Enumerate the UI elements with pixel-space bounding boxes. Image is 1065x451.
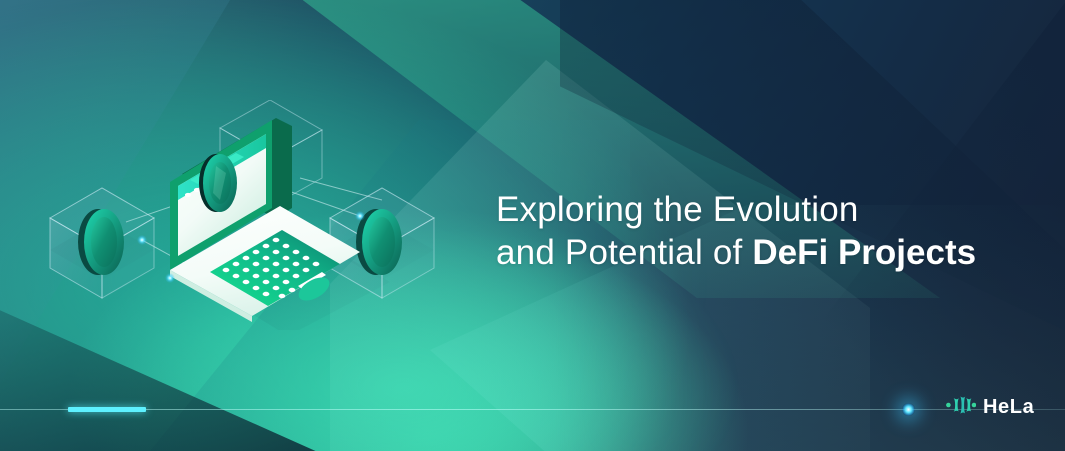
isometric-laptop-illustration [30,100,460,330]
glow-dot-icon [902,403,915,416]
headline-line-2: and Potential of DeFi Projects [496,231,976,274]
promo-banner: Exploring the Evolution and Potential of… [0,0,1065,451]
accent-bar [68,407,146,412]
headline-bold-text: DeFi Projects [752,233,976,272]
hela-mark-icon [946,395,976,420]
headline-plain-text: and Potential of [496,233,752,272]
left-coin [78,209,124,275]
brand-name: HeLa [983,396,1034,419]
page-title: Exploring the Evolution and Potential of… [496,188,976,274]
headline-line-1: Exploring the Evolution [496,188,976,231]
brand-logo[interactable]: HeLa [946,395,1034,420]
coin-on-screen [199,154,237,212]
left-coin-cube [50,188,154,298]
sparkle-icon [165,273,175,283]
